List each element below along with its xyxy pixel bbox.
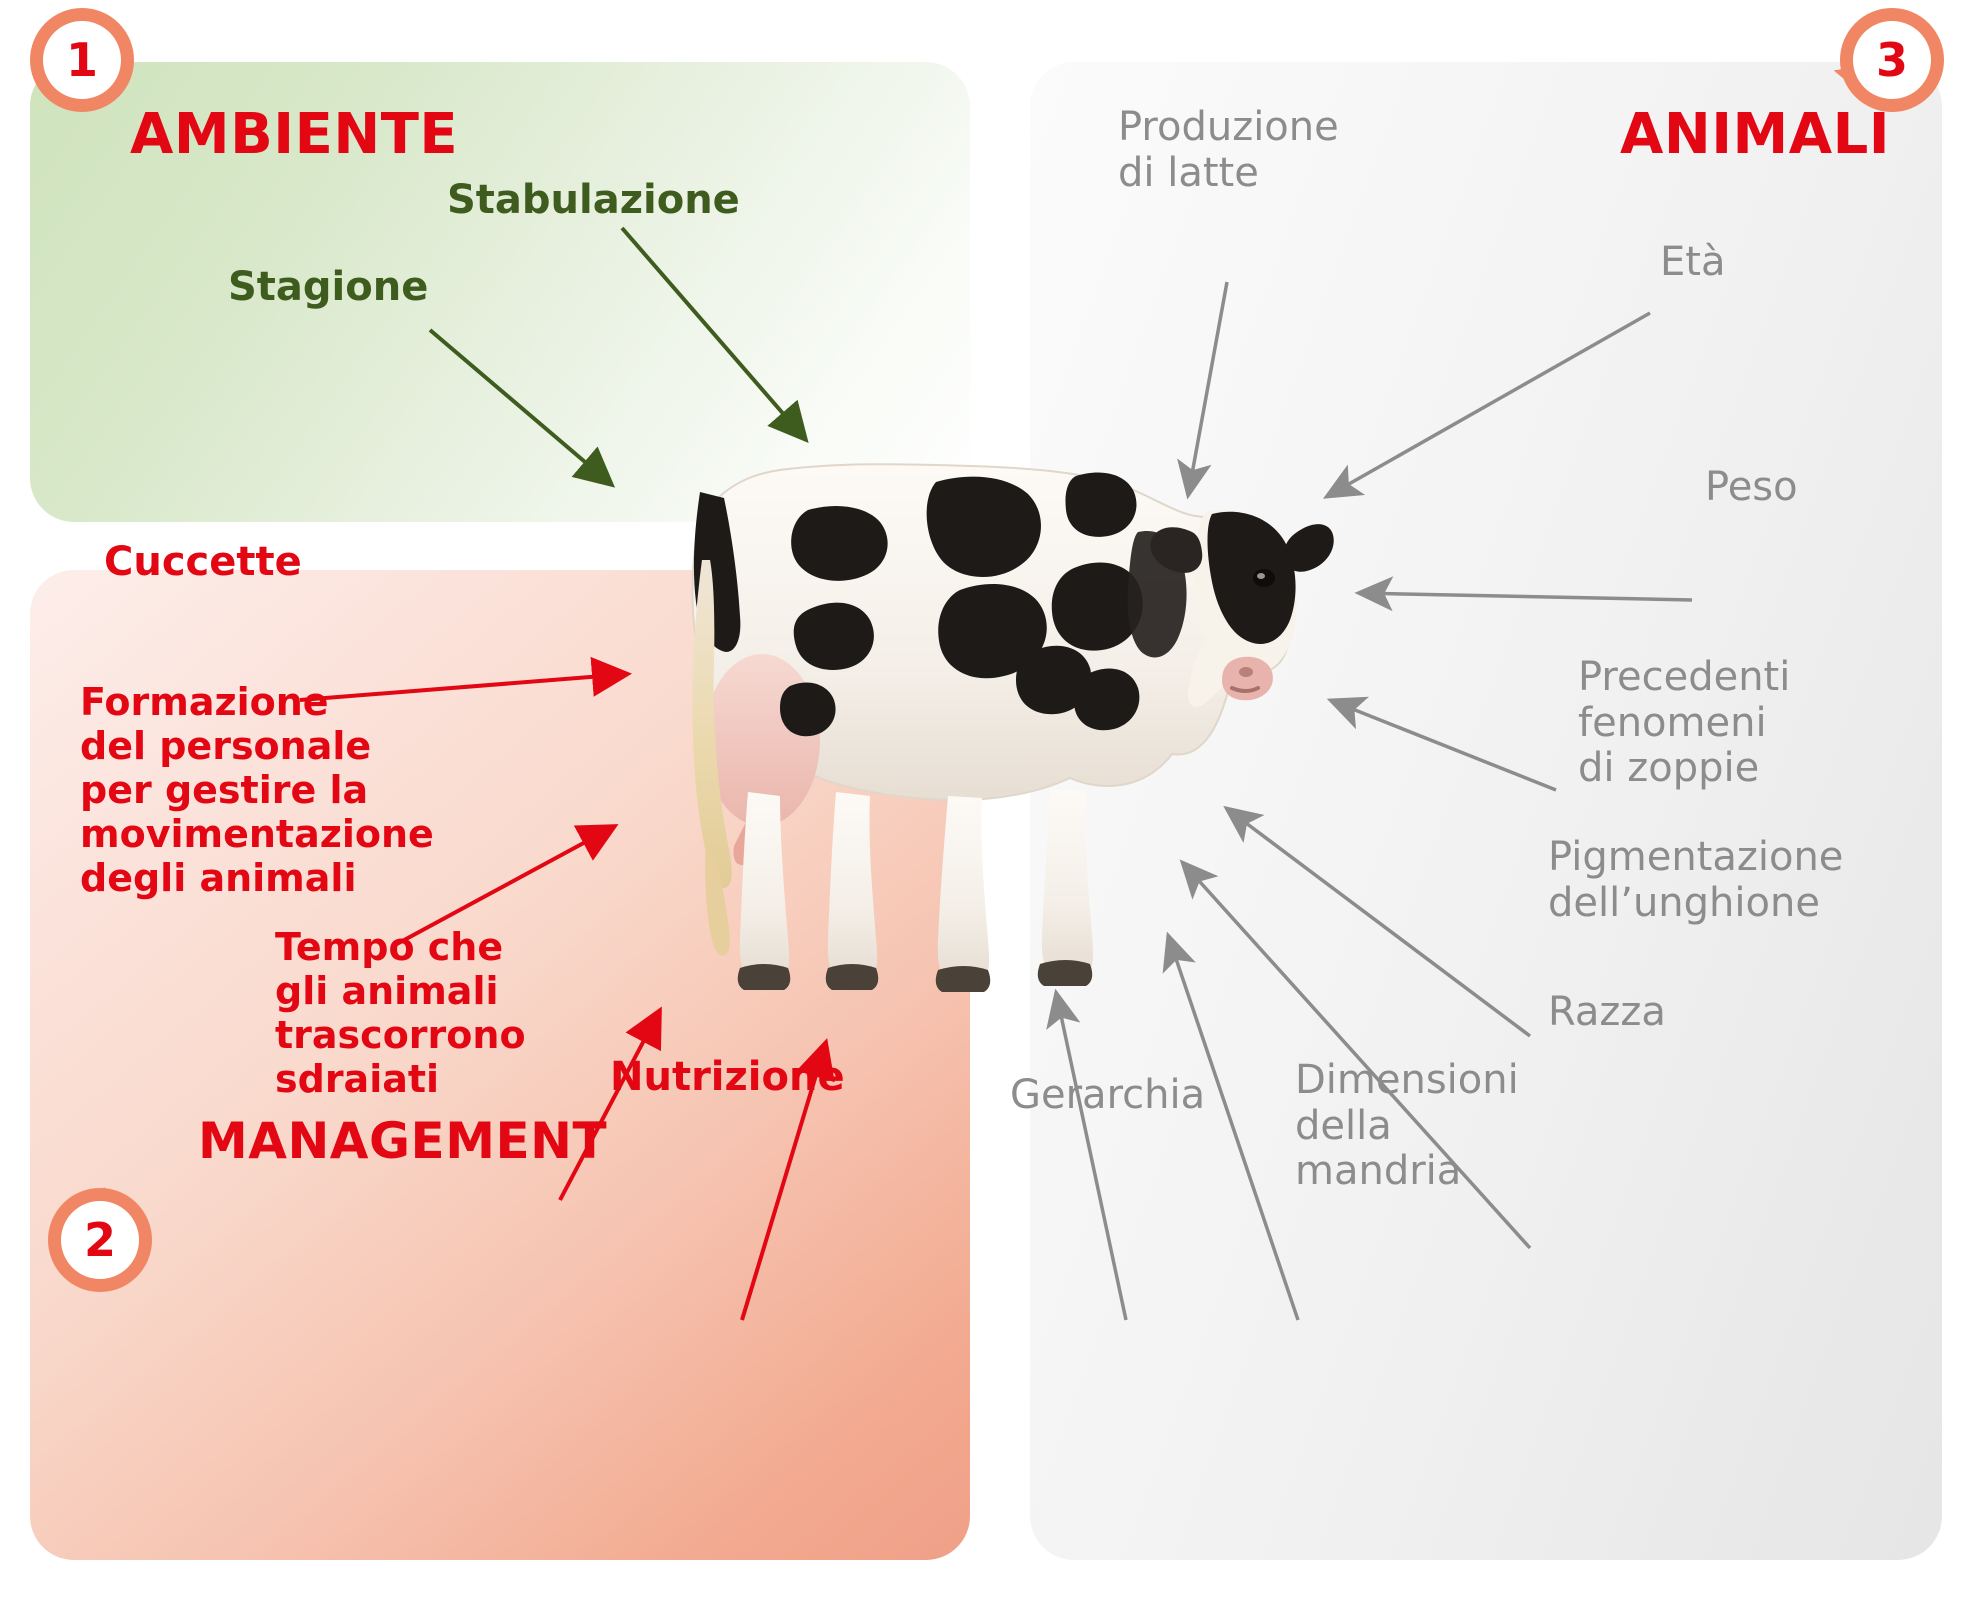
- label-produzione-di-latte: Produzione di latte: [1118, 105, 1339, 196]
- cow-image: [640, 440, 1340, 1000]
- label-dimensioni-della-mandria: Dimensioni della mandria: [1295, 1058, 1519, 1195]
- label-gerarchia: Gerarchia: [1010, 1073, 1205, 1119]
- label-razza: Razza: [1548, 990, 1666, 1036]
- infographic-canvas: 1 2 3 AMBIENTE MANAGEMENT ANIMALI Stabul…: [0, 0, 1972, 1606]
- label-stagione: Stagione: [228, 265, 428, 311]
- heading-management: MANAGEMENT: [198, 1112, 607, 1170]
- heading-ambiente: AMBIENTE: [130, 102, 458, 167]
- heading-animali: ANIMALI: [1620, 102, 1890, 167]
- label-peso: Peso: [1705, 465, 1798, 511]
- label-precedenti-fenomeni-di-zoppie: Precedenti fenomeni di zoppie: [1578, 655, 1790, 792]
- badge-1[interactable]: 1: [30, 8, 134, 112]
- badge-2[interactable]: 2: [48, 1188, 152, 1292]
- badge-2-number: 2: [48, 1188, 152, 1292]
- label-tempo-sdraiati: Tempo che gli animali trascorrono sdraia…: [275, 925, 526, 1101]
- label-eta: Età: [1660, 240, 1725, 286]
- badge-1-number: 1: [30, 8, 134, 112]
- label-stabulazione: Stabulazione: [447, 178, 740, 224]
- badge-3[interactable]: 3: [1840, 8, 1944, 112]
- label-cuccette: Cuccette: [104, 540, 302, 586]
- badge-3-number: 3: [1840, 8, 1944, 112]
- label-pigmentazione-unghione: Pigmentazione dell’unghione: [1548, 835, 1843, 926]
- label-formazione-personale: Formazione del personale per gestire la …: [80, 680, 434, 900]
- label-nutrizione: Nutrizione: [610, 1055, 845, 1101]
